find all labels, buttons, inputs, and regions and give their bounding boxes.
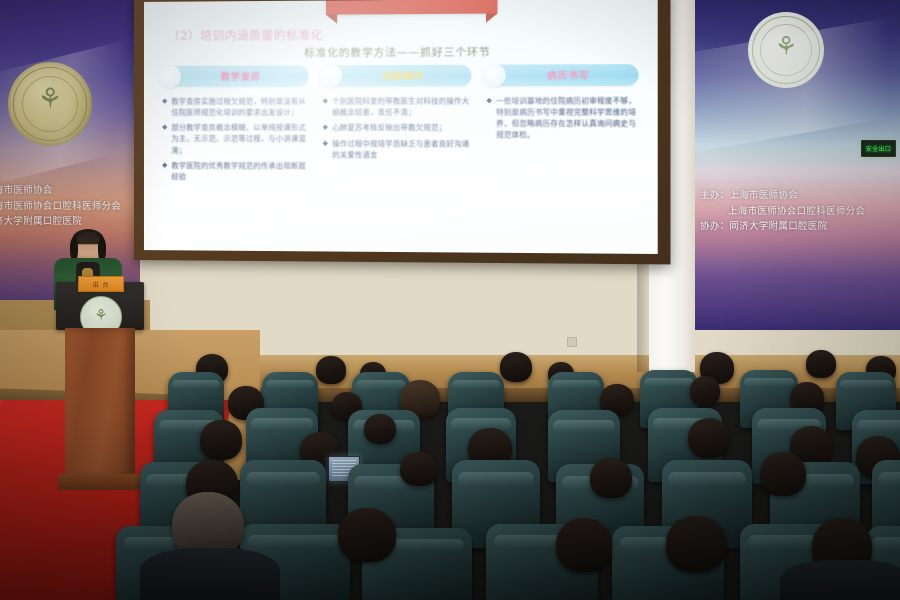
column-bullets-2: ◆ 个别医院科室的带教医生对科技的操作大纲概念较差，责任不清； ◆ 心肺复苏考核… bbox=[323, 95, 472, 160]
banner-right-text: 主办：上海市医师协会 上海市医师协会口腔科医师分会 协办：同济大学附属口腔医院 bbox=[700, 188, 865, 235]
slide-columns: 教学查房 ◆ 教学查房实施过程欠规范，特别是没有从住院医师规范化培训的要求出发设… bbox=[162, 64, 639, 188]
banner-right-line-1: 主办：上海市医师协会 bbox=[700, 188, 865, 204]
column-bullets-3: ◆ 一些培训基地的住院病历初审程度不够，特别是病历书写中重视完整科学思维的培养，… bbox=[486, 95, 638, 141]
bullet-item: ◆ 一些培训基地的住院病历初审程度不够，特别是病历书写中重视完整科学思维的培养，… bbox=[486, 95, 638, 141]
slide-column-3: 病历书写 ◆ 一些培训基地的住院病历初审程度不够，特别是病历书写中重视完整科学思… bbox=[486, 64, 638, 188]
speaker-hair-right bbox=[98, 238, 106, 260]
column-header-label-3: 病历书写 bbox=[535, 68, 590, 82]
audience-head bbox=[556, 518, 612, 572]
audience-head bbox=[760, 452, 806, 496]
exit-sign-label: 安全出口 bbox=[866, 144, 892, 153]
audience-head bbox=[200, 420, 242, 460]
banner-left-line-1: 上海市医师协会 bbox=[0, 183, 121, 199]
diamond-bullet-icon: ◆ bbox=[162, 96, 167, 107]
column-header-label-1: 教学查房 bbox=[209, 70, 262, 83]
diamond-bullet-icon: ◆ bbox=[323, 122, 329, 133]
speaker-hair-left bbox=[70, 238, 78, 260]
slide-ribbon-label: 升级 能力提升 bbox=[326, 0, 498, 2]
diamond-bullet-icon: ◆ bbox=[162, 122, 167, 133]
audience-head bbox=[316, 356, 346, 384]
banner-right: ⚘ 主办：上海市医师协会 上海市医师协会口腔科医师分会 协办：同济大学附属口腔医… bbox=[690, 0, 900, 330]
bullet-item: ◆ 操作过程中规培学员缺乏与患者良好沟通的关爱性语言 bbox=[323, 138, 472, 161]
audience-head bbox=[400, 452, 438, 486]
diamond-bullet-icon: ◆ bbox=[323, 138, 329, 149]
bullet-text: 个别医院科室的带教医生对科技的操作大纲概念较差，责任不清； bbox=[332, 95, 472, 118]
banner-right-line-2: 上海市医师协会口腔科医师分会 bbox=[700, 204, 865, 220]
audience-head bbox=[688, 418, 730, 458]
column-bullets-1: ◆ 教学查房实施过程欠规范，特别是没有从住院医师规范化培训的要求出发设计； ◆ … bbox=[162, 96, 308, 183]
audience-head bbox=[500, 352, 532, 382]
audience-head bbox=[338, 508, 396, 562]
column-header-pill-1: 教学查房 bbox=[162, 65, 308, 87]
audience-head bbox=[690, 376, 720, 406]
slide-subtitle: 标准化的教学方法——抓好三个环节 bbox=[144, 43, 658, 61]
audience-shoulders bbox=[780, 560, 900, 600]
slide-ribbon-banner: 升级 能力提升 bbox=[326, 0, 498, 15]
podium-nameplate: 讲 台 bbox=[78, 276, 124, 292]
white-emblem-icon: ⚘ bbox=[748, 12, 824, 88]
bullet-item: ◆ 教学医院的优秀教学规范的传承出现断层经验 bbox=[162, 160, 308, 183]
diamond-bullet-icon: ◆ bbox=[162, 160, 167, 171]
slide-section-title: （2）培训内涵质量的标准化 bbox=[168, 27, 323, 44]
gold-emblem-icon: ⚘ bbox=[8, 62, 92, 146]
bullet-text: 操作过程中规培学员缺乏与患者良好沟通的关爱性语言 bbox=[332, 138, 472, 161]
audience-head bbox=[364, 414, 396, 444]
wall-socket bbox=[567, 337, 577, 347]
bullet-text: 一些培训基地的住院病历初审程度不够，特别是病历书写中重视完整科学思维的培养，但忽… bbox=[496, 95, 638, 141]
auditorium-scene: ⚘ 上海市医师协会 上海市医师协会口腔科医师分会 同济大学附属口腔医院 ⚘ 主办… bbox=[0, 0, 900, 600]
bullet-text: 心肺复苏考核反映出带教欠规范； bbox=[332, 122, 446, 133]
bullet-item: ◆ 部分教学查房概念模糊，以单纯授课形式为主，无示范、示范等过程，与小讲课混淆； bbox=[162, 122, 308, 156]
bullet-text: 教学查房实施过程欠规范，特别是没有从住院医师规范化培训的要求出发设计； bbox=[171, 96, 308, 119]
column-header-label-2: 技能操作 bbox=[370, 69, 424, 82]
banner-left-text: 上海市医师协会 上海市医师协会口腔科医师分会 同济大学附属口腔医院 bbox=[0, 183, 121, 230]
banner-left-line-2: 上海市医师协会口腔科医师分会 bbox=[0, 199, 121, 215]
podium-nameplate-label: 讲 台 bbox=[93, 280, 110, 289]
projection-screen: 升级 能力提升 （2）培训内涵质量的标准化 标准化的教学方法——抓好三个环节 教… bbox=[144, 0, 658, 254]
diamond-bullet-icon: ◆ bbox=[486, 95, 492, 106]
bullet-text: 教学医院的优秀教学规范的传承出现断层经验 bbox=[171, 160, 308, 183]
diamond-bullet-icon: ◆ bbox=[323, 96, 329, 107]
bullet-item: ◆ 个别医院科室的带教医生对科技的操作大纲概念较差，责任不清； bbox=[323, 95, 472, 118]
audience-head bbox=[666, 516, 726, 572]
bullet-item: ◆ 教学查房实施过程欠规范，特别是没有从住院医师规范化培训的要求出发设计； bbox=[162, 96, 308, 119]
slide-column-2: 技能操作 ◆ 个别医院科室的带教医生对科技的操作大纲概念较差，责任不清； ◆ 心… bbox=[323, 65, 472, 188]
audience-shoulders bbox=[140, 548, 280, 600]
bullet-item: ◆ 心肺复苏考核反映出带教欠规范； bbox=[323, 122, 472, 133]
audience-area bbox=[0, 348, 900, 600]
banner-left-line-3: 同济大学附属口腔医院 bbox=[0, 214, 121, 230]
audience-head bbox=[590, 458, 632, 498]
column-header-pill-3: 病历书写 bbox=[486, 64, 638, 86]
column-header-pill-2: 技能操作 bbox=[323, 65, 472, 87]
emergency-exit-sign: 安全出口 bbox=[861, 140, 896, 157]
banner-right-line-3: 协办：同济大学附属口腔医院 bbox=[700, 219, 865, 235]
slide-column-1: 教学查房 ◆ 教学查房实施过程欠规范，特别是没有从住院医师规范化培训的要求出发设… bbox=[162, 65, 308, 186]
audience-head bbox=[806, 350, 836, 378]
projection-screen-frame: 升级 能力提升 （2）培训内涵质量的标准化 标准化的教学方法——抓好三个环节 教… bbox=[134, 0, 670, 264]
bullet-text: 部分教学查房概念模糊，以单纯授课形式为主，无示范、示范等过程，与小讲课混淆； bbox=[171, 122, 308, 156]
